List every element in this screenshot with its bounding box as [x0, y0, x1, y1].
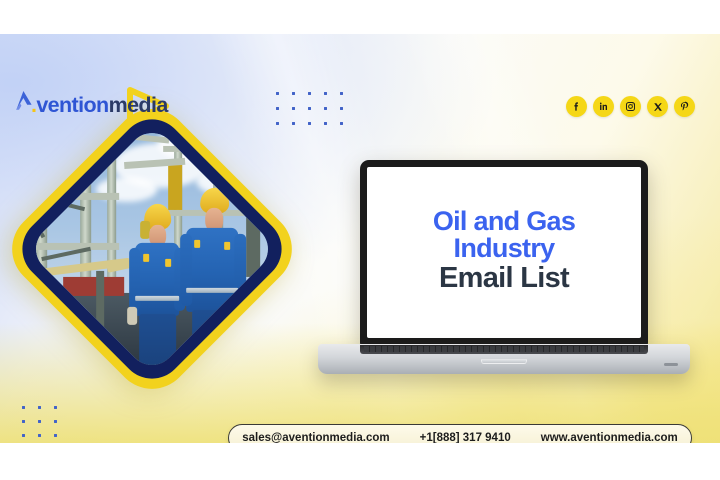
brand-logo-media: media [109, 93, 168, 117]
headline-line-3: Email List [433, 264, 575, 294]
laptop-keyboard [360, 345, 648, 354]
brand-logo[interactable]: A.ventionmedia [16, 86, 168, 124]
laptop-foot [664, 363, 678, 366]
pinterest-icon[interactable] [674, 96, 695, 117]
decorative-dot-grid-bottom [22, 406, 57, 443]
contact-bar: sales@aventionmedia.com +1[888] 317 9410… [228, 424, 692, 443]
headline: Oil and Gas Industry Email List [433, 208, 575, 298]
promo-banner: A.ventionmedia [0, 34, 720, 443]
hero-image-diamond [42, 139, 262, 359]
contact-email[interactable]: sales@aventionmedia.com [242, 432, 389, 443]
decorative-dot-grid-top [276, 92, 343, 125]
x-twitter-icon[interactable] [647, 96, 668, 117]
brand-logo-text: A.ventionmedia [16, 93, 168, 118]
contact-phone[interactable]: +1[888] 317 9410 [420, 432, 511, 443]
hero-photo-clip [26, 123, 278, 375]
linkedin-icon[interactable] [593, 96, 614, 117]
headline-line-2: Industry [433, 235, 575, 263]
laptop-mockup: Oil and Gas Industry Email List [318, 160, 690, 390]
laptop-trackpad [481, 359, 527, 364]
brand-logo-avention: vention [36, 93, 108, 117]
laptop-lid: Oil and Gas Industry Email List [360, 160, 648, 346]
banner-canvas: A.ventionmedia [0, 0, 720, 480]
facebook-icon[interactable] [566, 96, 587, 117]
social-links [566, 96, 695, 117]
avention-a-mark-icon [15, 90, 32, 110]
contact-website[interactable]: www.aventionmedia.com [541, 432, 678, 443]
laptop-screen: Oil and Gas Industry Email List [367, 167, 641, 338]
oil-workers-photo [26, 123, 278, 375]
instagram-icon[interactable] [620, 96, 641, 117]
headline-line-1: Oil and Gas [433, 208, 575, 236]
